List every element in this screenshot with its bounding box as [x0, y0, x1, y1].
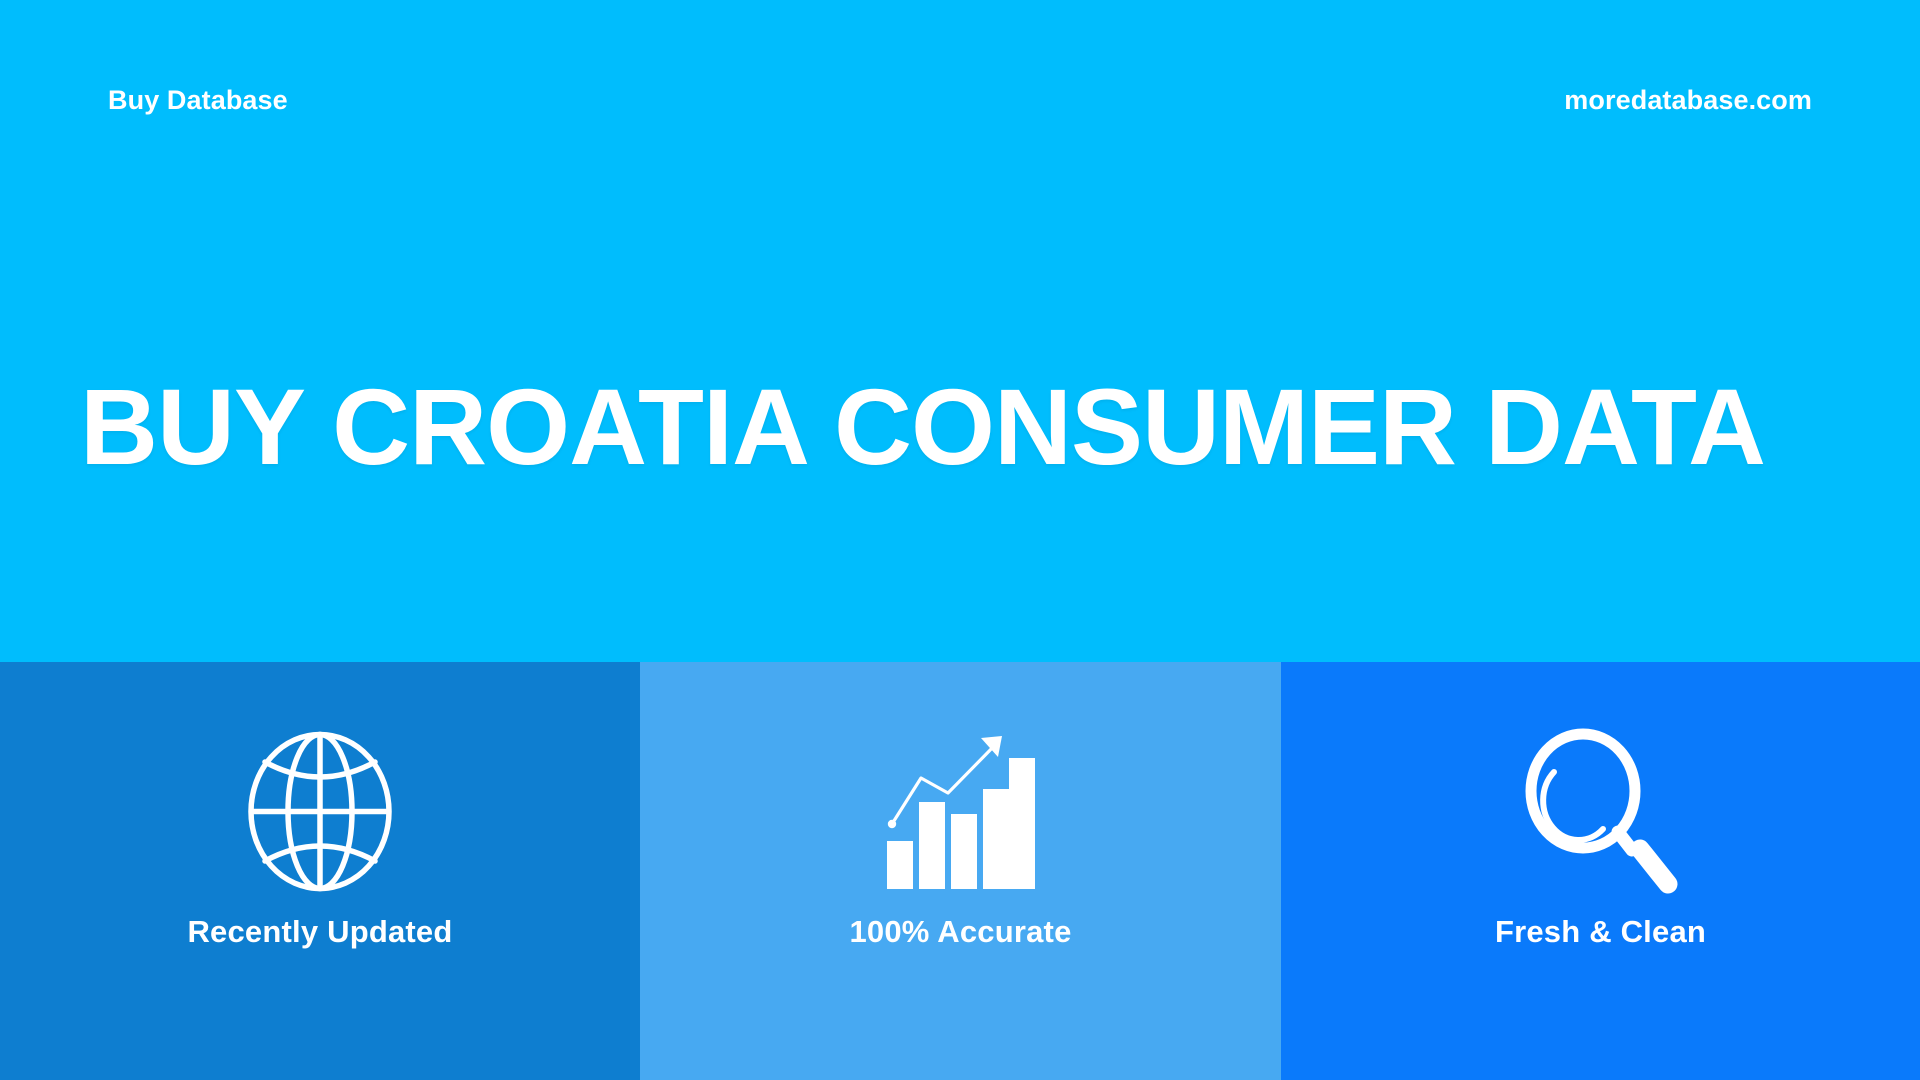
hero-section: Buy Database moredatabase.com BUY CROATI… — [0, 0, 1920, 662]
page-title: BUY CROATIA CONSUMER DATA — [80, 372, 1860, 482]
website-label: moredatabase.com — [1564, 87, 1812, 114]
feature-label: Fresh & Clean — [1495, 916, 1706, 947]
feature-card-100-accurate: 100% Accurate — [640, 662, 1281, 1080]
bar-chart-growth-icon — [866, 726, 1056, 896]
feature-strip: Recently Updated 100% Accu — [0, 662, 1920, 1080]
magnifier-icon — [1506, 726, 1696, 896]
globe-icon — [225, 726, 415, 896]
feature-card-fresh-clean: Fresh & Clean — [1281, 662, 1920, 1080]
brand-label: Buy Database — [108, 87, 288, 114]
hero-topbar: Buy Database moredatabase.com — [0, 0, 1920, 200]
feature-label: Recently Updated — [187, 916, 452, 947]
promo-banner: Buy Database moredatabase.com BUY CROATI… — [0, 0, 1920, 1080]
feature-label: 100% Accurate — [849, 916, 1071, 947]
feature-card-recently-updated: Recently Updated — [0, 662, 640, 1080]
